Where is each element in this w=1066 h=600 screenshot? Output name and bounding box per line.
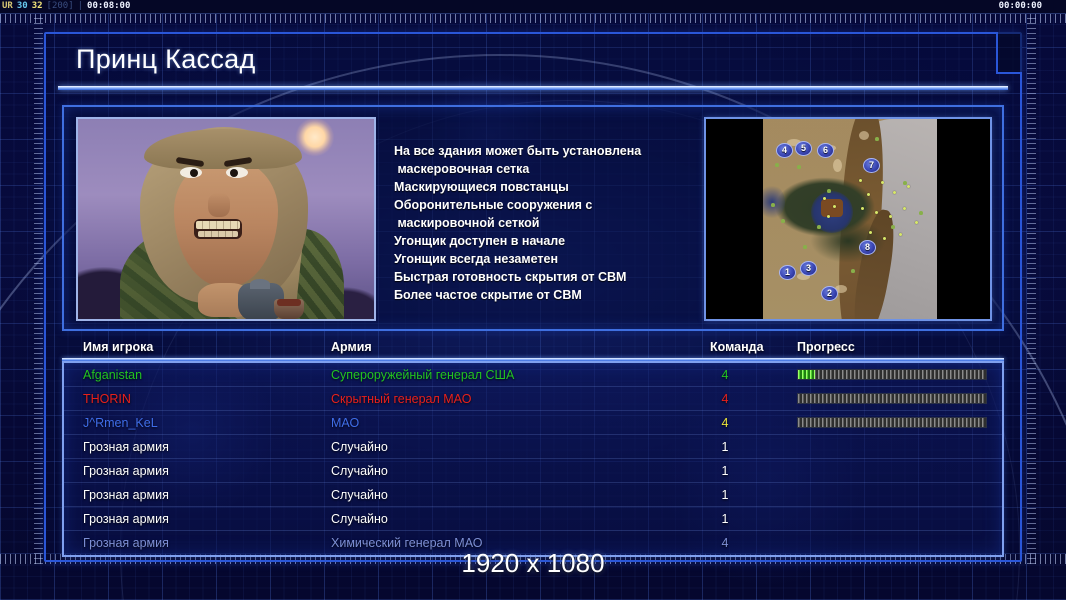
map-vegetation (891, 225, 895, 229)
general-info-panel: На все здания может быть установлена мас… (62, 105, 1004, 331)
map-resource (889, 215, 892, 218)
map-start-position-7[interactable]: 7 (863, 158, 880, 173)
player-progress-bar (797, 393, 987, 404)
map-vegetation (919, 211, 923, 215)
map-start-position-label: 2 (827, 288, 832, 298)
progress-track (798, 418, 986, 427)
map-resource (893, 191, 896, 194)
map-resource (827, 215, 830, 218)
player-team: 1 (714, 463, 736, 479)
map-start-position-2[interactable]: 2 (821, 286, 838, 301)
player-name: Грозная армия (83, 487, 169, 503)
map-start-position-label: 1 (785, 267, 790, 277)
table-row[interactable]: THORINСкрытный генерал МАО4 (64, 387, 1002, 411)
ability-line: Угонщик доступен в начале (394, 232, 696, 250)
player-name: Грозная армия (83, 463, 169, 479)
player-progress-bar (797, 369, 987, 380)
table-row[interactable]: Грозная армияСлучайно1 (64, 435, 1002, 459)
status-separator: | (76, 2, 85, 11)
portrait-cup-tea (277, 299, 301, 306)
map-start-position-1[interactable]: 1 (779, 265, 796, 280)
map-resource (899, 233, 902, 236)
title-bar: Принц Кассад (58, 40, 1008, 90)
column-header-progress: Прогресс (797, 339, 855, 355)
map-start-position-label: 5 (801, 143, 806, 153)
portrait-pupil-right (230, 169, 238, 177)
player-table: AfganistanСупероружейный генерал США4THO… (62, 361, 1004, 557)
map-vegetation (775, 163, 779, 167)
portrait-teeth-lower (198, 231, 238, 237)
map-start-position-label: 4 (782, 145, 787, 155)
map-resource (823, 197, 826, 200)
portrait-pupil-left (190, 169, 198, 177)
player-progress-bar (797, 417, 987, 428)
map-resource (833, 205, 836, 208)
player-army: Скрытный генерал МАО (331, 391, 471, 407)
map-resource (867, 193, 870, 196)
portrait-image (78, 119, 374, 319)
column-header-team: Команда (710, 339, 764, 355)
map-start-position-label: 7 (869, 160, 874, 170)
column-header-name: Имя игрока (83, 339, 153, 355)
ability-line: Угонщик всегда незаметен (394, 250, 696, 268)
map-start-position-6[interactable]: 6 (817, 143, 834, 158)
map-resource (907, 185, 910, 188)
map-start-position-8[interactable]: 8 (859, 240, 876, 255)
map-vegetation (771, 203, 775, 207)
ability-line: маскировочной сеткой (394, 214, 696, 232)
map-vegetation (903, 181, 907, 185)
player-army: Супероружейный генерал США (331, 367, 514, 383)
ruler-top (0, 14, 1066, 23)
game-lobby-screen: UR 30 32 [200] | 00:08:00 00:00:00 Принц… (0, 0, 1066, 600)
player-team: 4 (714, 391, 736, 407)
map-resource (883, 237, 886, 240)
map-start-position-5[interactable]: 5 (795, 141, 812, 156)
ability-line: Быстрая готовность скрытия от СВМ (394, 268, 696, 286)
player-army: Случайно (331, 511, 388, 527)
ability-line: Маскирующиеся повстанцы (394, 178, 696, 196)
general-ability-list: На все здания может быть установлена мас… (394, 142, 696, 304)
progress-track (798, 394, 986, 403)
map-resource (869, 231, 872, 234)
general-portrait (76, 117, 376, 321)
column-header-army: Армия (331, 339, 372, 355)
player-name: Afganistan (83, 367, 142, 383)
status-value-2: 32 (30, 2, 45, 11)
map-vegetation (803, 245, 807, 249)
player-name: Грозная армия (83, 511, 169, 527)
player-army: МАО (331, 415, 359, 431)
player-team: 1 (714, 487, 736, 503)
ability-line: Оборонительные сооружения с (394, 196, 696, 214)
ability-line: маскеровочная сетка (394, 160, 696, 178)
map-resource (861, 207, 864, 210)
player-army: Случайно (331, 487, 388, 503)
portrait-mouth (194, 219, 242, 239)
map-sand-patch (859, 131, 869, 140)
map-vegetation (827, 189, 831, 193)
progress-fill (798, 370, 815, 379)
player-team: 1 (714, 439, 736, 455)
map-vegetation (851, 269, 855, 273)
player-army: Случайно (331, 463, 388, 479)
ruler-left (34, 14, 43, 564)
title-underline (58, 86, 1008, 90)
ruler-right (1027, 14, 1036, 564)
ability-line: Более частое скрытие от СВМ (394, 286, 696, 304)
map-start-position-3[interactable]: 3 (800, 261, 817, 276)
map-resource (875, 211, 878, 214)
player-team: 4 (714, 415, 736, 431)
map-preview[interactable]: 1 2 3 4 5 6 7 (704, 117, 992, 321)
page-title: Принц Кассад (76, 44, 256, 74)
map-resource (903, 207, 906, 210)
player-name: THORIN (83, 391, 131, 407)
map-resource (915, 221, 918, 224)
status-value-1: 30 (15, 2, 30, 11)
status-bar: UR 30 32 [200] | 00:08:00 00:00:00 (0, 0, 1066, 14)
map-center-base (821, 199, 843, 217)
portrait-nose (208, 193, 230, 217)
map-resource (859, 179, 862, 182)
status-bracket: [200] (45, 2, 76, 11)
portrait-teeth-upper (196, 221, 240, 229)
map-preview-image: 1 2 3 4 5 6 7 (763, 119, 937, 319)
table-row[interactable]: AfganistanСупероружейный генерал США4 (64, 363, 1002, 387)
table-row[interactable]: Грозная армияСлучайно1 (64, 507, 1002, 531)
player-team: 4 (714, 367, 736, 383)
status-label: UR (0, 2, 15, 11)
map-vegetation (817, 225, 821, 229)
table-row[interactable]: Грозная армияСлучайно1 (64, 459, 1002, 483)
player-team: 1 (714, 511, 736, 527)
status-timer-right: 00:00:00 (997, 2, 1044, 11)
player-name: Грозная армия (83, 439, 169, 455)
map-start-position-label: 3 (806, 263, 811, 273)
resolution-overlay: 1920 x 1080 (0, 548, 1066, 578)
player-name: J^Rmen_KeL (83, 415, 158, 431)
map-sand-patch (833, 159, 842, 172)
map-start-position-label: 8 (865, 242, 870, 252)
map-start-position-label: 6 (823, 145, 828, 155)
table-row[interactable]: J^Rmen_KeLМАО4 (64, 411, 1002, 435)
map-start-position-4[interactable]: 4 (776, 143, 793, 158)
status-timer-left: 00:08:00 (85, 2, 132, 11)
map-vegetation (781, 219, 785, 223)
map-vegetation (797, 165, 801, 169)
map-vegetation (875, 137, 879, 141)
progress-track (798, 370, 986, 379)
map-resource (881, 181, 884, 184)
ability-line: На все здания может быть установлена (394, 142, 696, 160)
player-army: Случайно (331, 439, 388, 455)
table-row[interactable]: Грозная армияСлучайно1 (64, 483, 1002, 507)
portrait-kettle-lid (250, 279, 270, 289)
player-table-header: Имя игрока Армия Команда Прогресс (62, 339, 1004, 361)
